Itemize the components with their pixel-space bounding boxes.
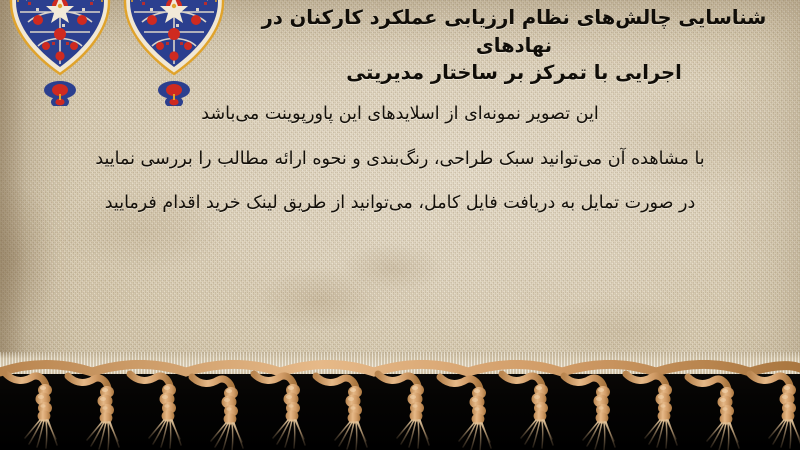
page-title: شناسایی چالش‌های نظام ارزیابی عملکرد کار…: [234, 4, 794, 87]
title-line-2: اجرایی با تمرکز بر ساختار مدیریتی: [234, 59, 794, 87]
body-text-block: این تصویر نمونه‌ای از اسلایدهای این پاور…: [0, 106, 800, 240]
carpet-black-field: [0, 374, 800, 450]
slide-canvas: شناسایی چالش‌های نظام ارزیابی عملکرد کار…: [0, 0, 800, 450]
body-line-2: با مشاهده آن می‌توانید سبک طراحی، رنگ‌بن…: [0, 151, 800, 169]
title-line-1: شناسایی چالش‌های نظام ارزیابی عملکرد کار…: [234, 4, 794, 59]
body-line-3: در صورت تمایل به دریافت فایل کامل، می‌تو…: [0, 195, 800, 213]
body-line-1: این تصویر نمونه‌ای از اسلایدهای این پاور…: [0, 106, 800, 124]
